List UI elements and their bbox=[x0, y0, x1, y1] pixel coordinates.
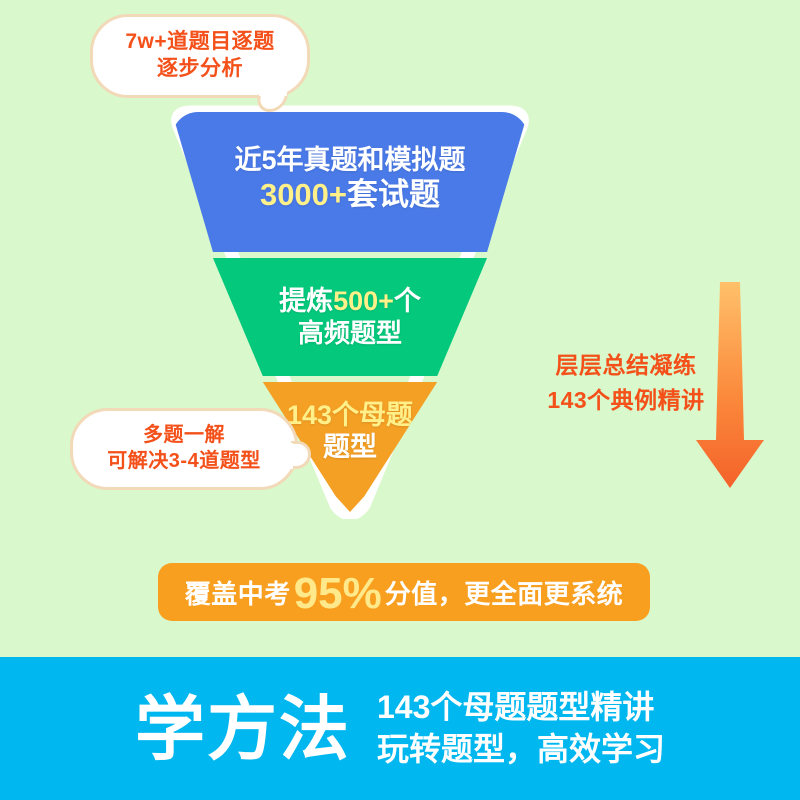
coverage-banner: 覆盖中考 95% 分值，更全面更系统 bbox=[158, 563, 650, 621]
funnel-stage-green: 提炼500+个 高频题型 bbox=[172, 258, 528, 376]
callout-bubble-left: 多题一解 可解决3-4道题型 bbox=[70, 408, 298, 490]
bottom-title: 学方法 bbox=[135, 694, 351, 764]
funnel-green-prefix: 提炼 bbox=[279, 286, 333, 316]
funnel-green-line1: 提炼500+个 bbox=[279, 286, 421, 318]
funnel-blue-rest: 套试题 bbox=[347, 177, 440, 212]
bottom-banner: 学方法 143个母题题型精讲 玩转题型，高效学习 bbox=[0, 657, 800, 800]
down-arrow-icon bbox=[694, 282, 766, 488]
callout-left-line2: 可解决3-4道题型 bbox=[107, 449, 260, 475]
funnel-blue-line1: 近5年真题和模拟题 bbox=[234, 145, 465, 177]
bottom-subtitle: 143个母题题型精讲 玩转题型，高效学习 bbox=[377, 687, 665, 770]
callout-top-line2: 逐步分析 bbox=[157, 56, 243, 83]
bottom-subtitle-line2: 玩转题型，高效学习 bbox=[377, 729, 665, 771]
funnel-green-suffix: 个 bbox=[394, 286, 421, 316]
callout-bubble-top: 7w+道题目逐题 逐步分析 bbox=[90, 14, 310, 98]
funnel-blue-highlight: 3000+ bbox=[260, 177, 347, 212]
funnel-orange-highlight: 143个母题 bbox=[287, 400, 413, 432]
callout-top-tail bbox=[256, 94, 288, 112]
bottom-banner-inner: 学方法 143个母题题型精讲 玩转题型，高效学习 bbox=[135, 687, 665, 770]
callout-left-line1: 多题一解 bbox=[143, 423, 225, 449]
funnel-orange-line2: 题型 bbox=[323, 432, 377, 464]
banner-prefix: 覆盖中考 bbox=[185, 574, 291, 611]
poster-canvas: 近5年真题和模拟题 3000+套试题 提炼500+个 高频题型 143个母题 题… bbox=[0, 0, 800, 800]
banner-percent: 95% bbox=[291, 572, 385, 616]
banner-suffix: 分值，更全面更系统 bbox=[385, 574, 624, 611]
bottom-subtitle-line1: 143个母题题型精讲 bbox=[377, 687, 665, 729]
funnel-blue-line2: 3000+套试题 bbox=[260, 177, 440, 214]
callout-top-line1: 7w+道题目逐题 bbox=[125, 29, 274, 56]
funnel-green-highlight: 500+ bbox=[333, 286, 394, 316]
funnel-stage-blue: 近5年真题和模拟题 3000+套试题 bbox=[172, 112, 528, 252]
funnel-green-line2: 高频题型 bbox=[298, 318, 402, 349]
